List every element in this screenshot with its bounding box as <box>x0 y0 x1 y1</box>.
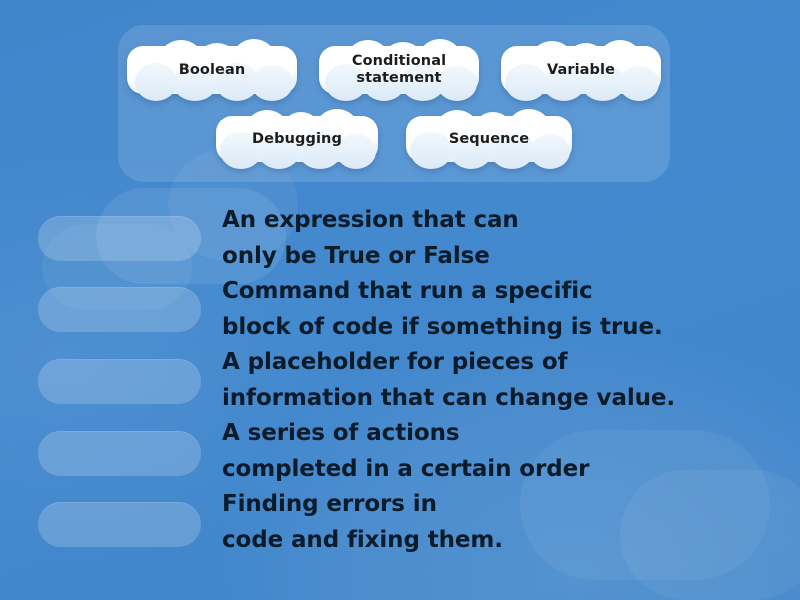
activity-stage: Boolean Conditional statement <box>0 0 800 600</box>
definition-item: A series of actions completed in a certa… <box>222 416 782 487</box>
definition-item: Command that run a specific block of cod… <box>222 274 782 345</box>
drop-slot-3[interactable] <box>38 359 201 404</box>
word-chip-label: Debugging <box>246 131 348 148</box>
cloud-bump <box>135 63 177 101</box>
cloud-bump <box>530 134 570 169</box>
definition-item: Finding errors in code and fixing them. <box>222 487 782 558</box>
definition-item: An expression that can only be True or F… <box>222 203 782 274</box>
word-bank-row-2: Debugging Sequence <box>118 107 670 171</box>
cloud-bump <box>251 65 293 101</box>
word-chip-variable[interactable]: Variable <box>501 37 661 103</box>
word-bank-panel: Boolean Conditional statement <box>118 25 670 182</box>
word-chip-label: Variable <box>541 62 621 79</box>
word-chip-label: Boolean <box>173 62 252 79</box>
drop-slot-5[interactable] <box>38 502 201 547</box>
word-chip-sequence[interactable]: Sequence <box>406 107 572 171</box>
drop-slot-1[interactable] <box>38 216 201 261</box>
drop-slot-2[interactable] <box>38 287 201 332</box>
drop-slot-4[interactable] <box>38 431 201 476</box>
definition-item: A placeholder for pieces of information … <box>222 345 782 416</box>
definition-list: An expression that can only be True or F… <box>222 203 782 558</box>
word-chip-debugging[interactable]: Debugging <box>216 107 378 171</box>
word-chip-label: Sequence <box>443 131 535 148</box>
word-chip-conditional-statement[interactable]: Conditional statement <box>319 37 479 103</box>
word-bank-row-1: Boolean Conditional statement <box>118 37 670 103</box>
cloud-bump <box>619 66 659 101</box>
word-chip-label: Conditional statement <box>346 53 452 87</box>
word-chip-boolean[interactable]: Boolean <box>127 37 297 103</box>
